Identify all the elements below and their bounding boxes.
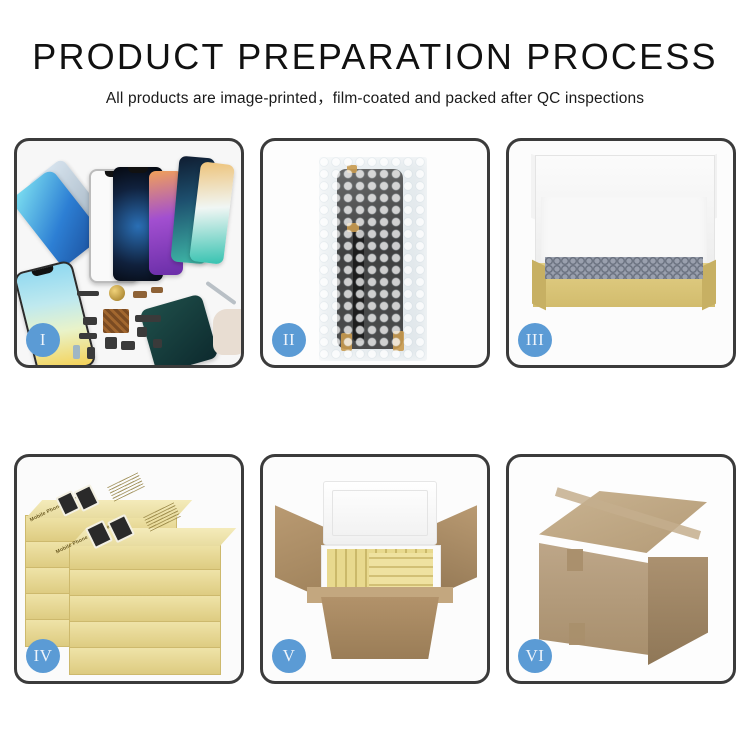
phone-rear-housing <box>139 293 219 368</box>
page-title: PRODUCT PREPARATION PROCESS <box>0 38 750 76</box>
box-print-lines <box>107 472 145 501</box>
small-part <box>121 341 135 350</box>
tape-strip <box>567 549 583 571</box>
stacked-box <box>69 647 221 675</box>
process-step-3: III <box>506 138 736 368</box>
step-badge-3: III <box>518 323 552 357</box>
foam-cooler-lid <box>323 481 437 545</box>
carton-top-face <box>539 491 707 553</box>
page-subtitle: All products are image-printed，film-coat… <box>0 86 750 108</box>
process-step-6: VI <box>506 454 736 684</box>
step-badge-6: VI <box>518 639 552 673</box>
stacked-box <box>69 595 221 623</box>
small-part <box>83 317 97 325</box>
carton-side-face <box>648 557 708 665</box>
product-preparation-infographic: PRODUCT PREPARATION PROCESS All products… <box>0 0 750 750</box>
stacked-box <box>69 569 221 597</box>
small-part <box>73 345 80 359</box>
step-badge-5: V <box>272 639 306 673</box>
process-step-5: V <box>260 454 490 684</box>
small-part <box>151 287 163 293</box>
process-step-1: I <box>14 138 244 368</box>
step-badge-1: I <box>26 323 60 357</box>
process-step-grid: I II <box>14 138 736 684</box>
kraft-tray <box>533 263 715 307</box>
small-part <box>77 291 99 296</box>
bubble-texture <box>319 157 427 361</box>
notch <box>128 167 148 173</box>
tape-strip <box>569 623 585 645</box>
process-step-4: Mobile Phone Spare Parts Mobile Phone Sp… <box>14 454 244 684</box>
carton-body <box>313 597 447 659</box>
grey-foam-insert <box>545 257 703 279</box>
small-part <box>133 291 147 298</box>
tray-corner-right <box>702 260 716 311</box>
stacked-box <box>69 621 221 649</box>
small-part <box>79 333 97 339</box>
stacked-box <box>69 543 221 571</box>
small-part <box>153 339 162 348</box>
step-badge-4: IV <box>26 639 60 673</box>
logic-board-part <box>103 309 129 333</box>
tray-corner-left <box>532 260 546 311</box>
small-part <box>87 347 95 359</box>
speaker-coil-part <box>109 285 125 301</box>
hand <box>213 309 244 355</box>
notch <box>32 266 55 277</box>
step-badge-2: II <box>272 323 306 357</box>
process-step-2: II <box>260 138 490 368</box>
carton-front-face <box>539 543 649 655</box>
tweezers <box>205 281 236 305</box>
small-part <box>105 337 117 349</box>
phone-large-front <box>14 259 97 368</box>
small-part <box>137 327 147 337</box>
small-part <box>135 315 161 322</box>
bubble-wrap-bag <box>319 157 427 361</box>
header: PRODUCT PREPARATION PROCESS All products… <box>0 0 750 108</box>
